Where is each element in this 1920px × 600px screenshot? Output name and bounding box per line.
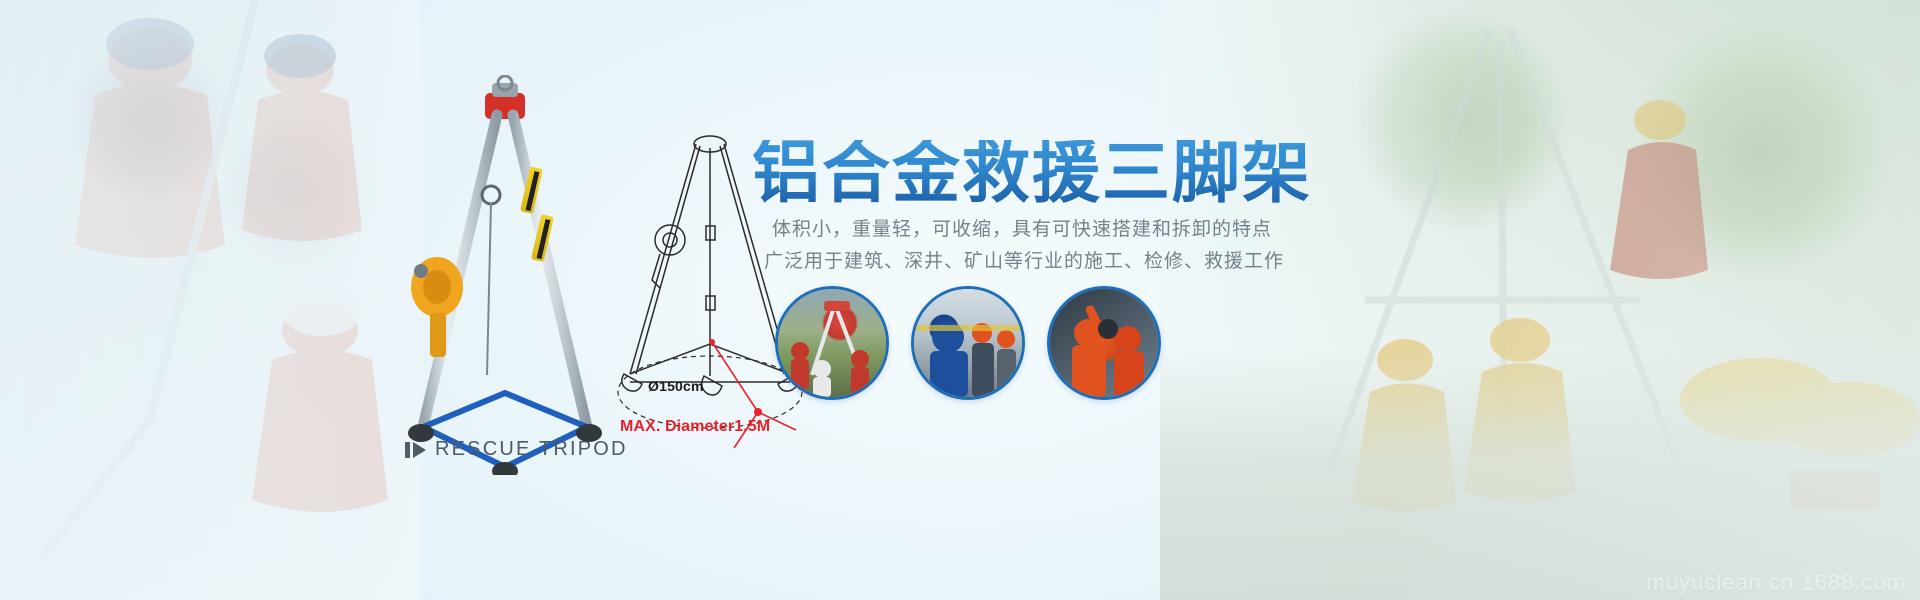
promo-banner: Ø150cm MAX. Diameter1.5M RESCUE TRIPOD 铝… <box>0 0 1920 600</box>
diameter-label: Ø150cm <box>648 378 704 394</box>
rescue-tripod-tag-label: RESCUE TRIPOD <box>435 438 628 461</box>
thumbnail-2-figures <box>914 289 1022 397</box>
rescue-tripod-tag: RESCUE TRIPOD <box>405 438 628 461</box>
product-photo-tripod <box>375 75 635 475</box>
background-right-ground <box>1160 350 1920 600</box>
thumbnail-gallery <box>775 286 1161 400</box>
thumbnail-confined-space-rescue[interactable] <box>1047 286 1161 400</box>
max-diameter-label: MAX. Diameter1.5M <box>620 418 770 436</box>
thumbnail-1-figures <box>778 289 886 397</box>
thumbnail-worker-training-demo[interactable] <box>911 286 1025 400</box>
background-left-figures <box>0 0 420 600</box>
thumbnail-field-rescue-operation[interactable] <box>775 286 889 400</box>
subtitle-line-2: 广泛用于建筑、深井、矿山等行业的施工、检修、救援工作 <box>764 246 1284 273</box>
page-title: 铝合金救援三脚架 <box>752 140 1312 208</box>
play-marker-icon <box>405 442 426 458</box>
watermark: muyuclean.cn.1688.com <box>1647 570 1906 596</box>
thumbnail-3-figures <box>1050 289 1158 397</box>
subtitle-line-1: 体积小，重量轻，可收缩，具有可快速搭建和拆卸的特点 <box>772 214 1272 241</box>
